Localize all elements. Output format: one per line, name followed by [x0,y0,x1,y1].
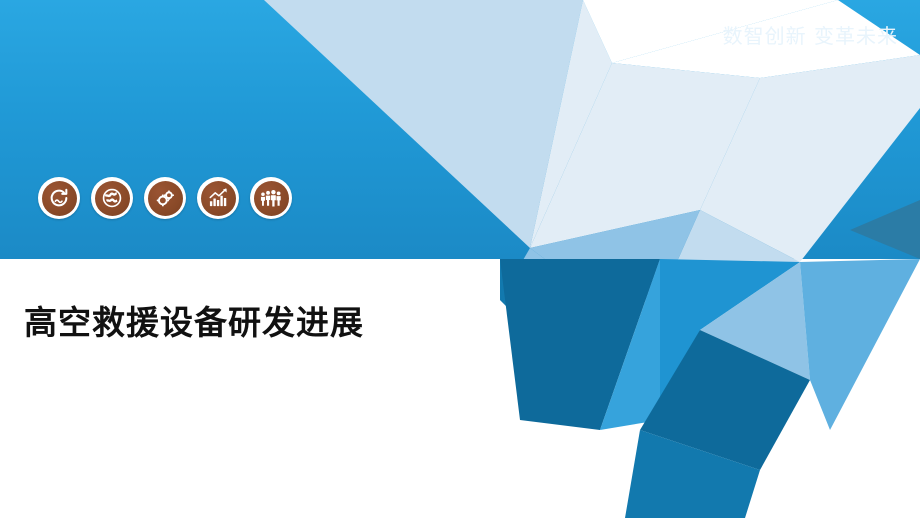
tagline-text: 数智创新 变革未来 [723,26,898,46]
globe-icon [95,181,130,216]
bar-chart-growth-icon [201,181,236,216]
refresh-cycle-icon [42,181,77,216]
icon-row [38,177,292,219]
polygon-p1 [264,0,583,248]
polygon-p11 [850,200,920,259]
polygon-group [264,0,920,518]
slide-canvas: 数智创新 变革未来 [0,0,920,518]
icon-badge-gears[interactable] [144,177,186,219]
page-title: 高空救援设备研发进展 [24,296,364,344]
icon-badge-refresh-cycle[interactable] [38,177,80,219]
gears-icon [148,181,183,216]
icon-badge-globe[interactable] [91,177,133,219]
low-poly-artwork [0,0,920,518]
icon-badge-people-group[interactable] [250,177,292,219]
people-group-icon [254,181,289,216]
icon-badge-bar-chart-growth[interactable] [197,177,239,219]
polygon-p16 [800,259,920,430]
